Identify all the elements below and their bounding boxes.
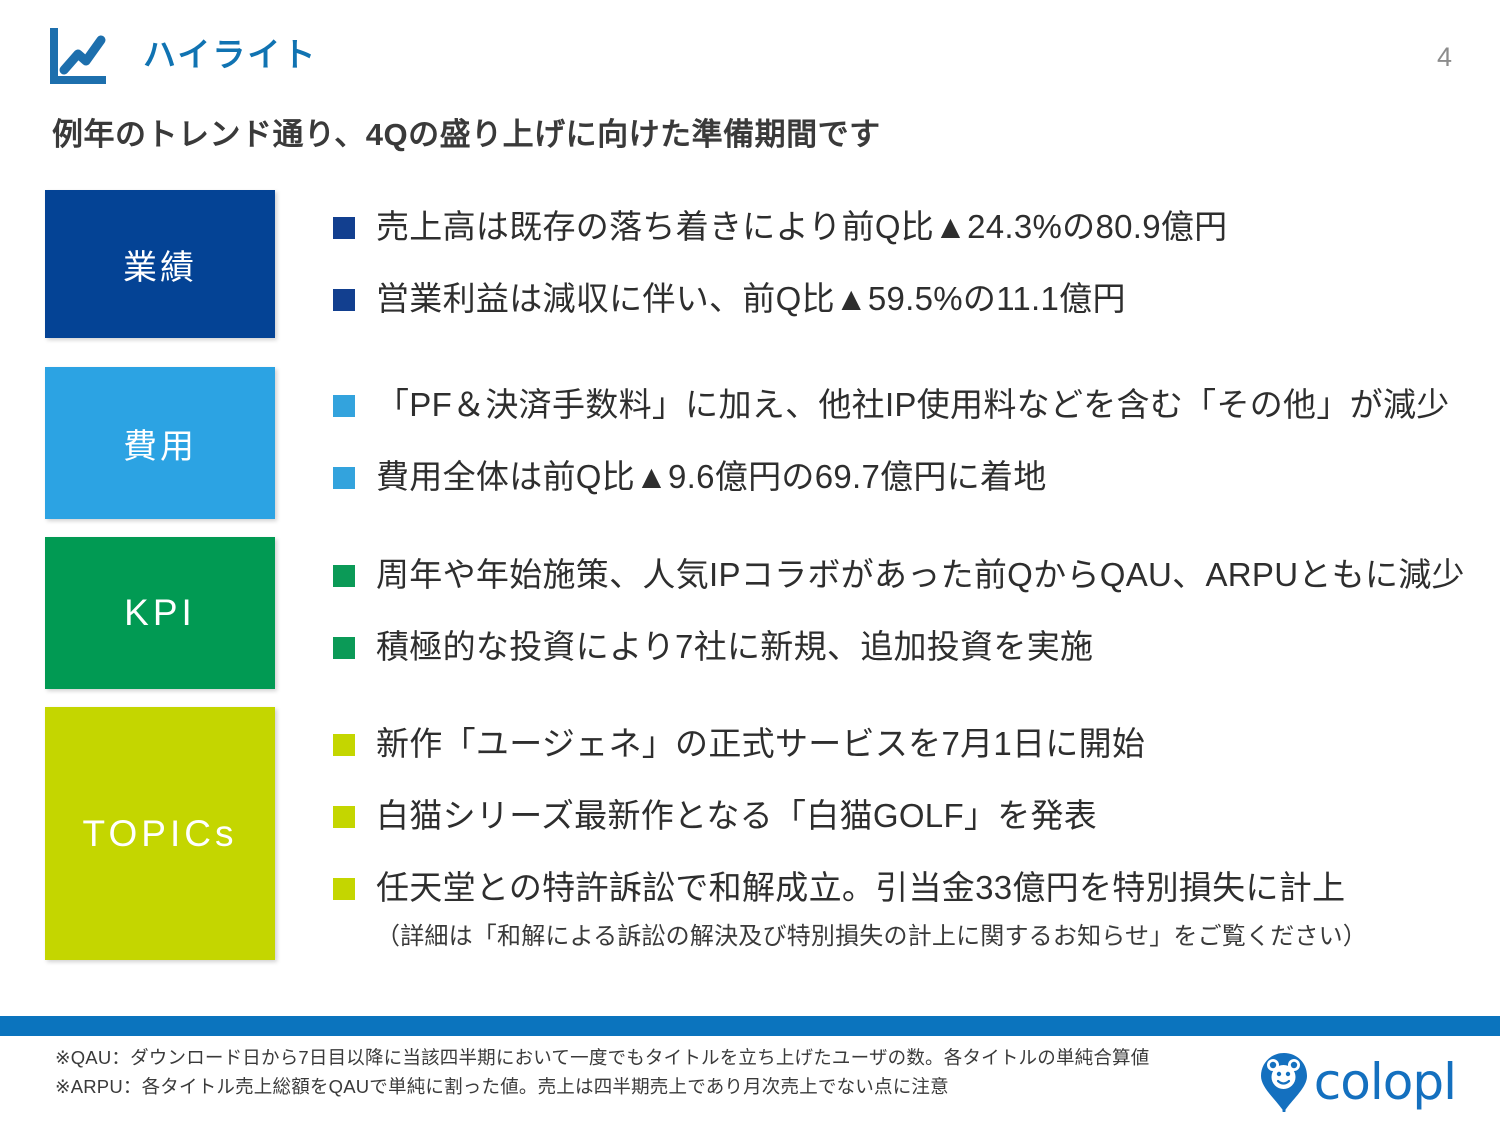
bullet-text: 費用全体は前Q比▲9.6億円の69.7億円に着地: [376, 458, 1047, 496]
bullet-square-icon: [333, 734, 355, 756]
bullet-square-icon: [333, 467, 355, 489]
section-bullets-topics: 新作「ユージェネ」の正式サービスを7月1日に開始 白猫シリーズ最新作となる「白猫…: [333, 725, 1367, 951]
bullet-square-icon: [333, 878, 355, 900]
bullet-item: 新作「ユージェネ」の正式サービスを7月1日に開始: [333, 725, 1367, 763]
section-badge-hiyou: 費用: [45, 367, 275, 519]
bullet-text: 営業利益は減収に伴い、前Q比▲59.5%の11.1億円: [376, 280, 1126, 318]
bullet-item: 積極的な投資により7社に新規、追加投資を実施: [333, 628, 1465, 666]
bullet-square-icon: [333, 289, 355, 311]
slide: ハイライト 4 例年のトレンド通り、4Qの盛り上げに向けた準備期間です 業績 売…: [0, 0, 1500, 1125]
section-label: TOPICs: [83, 813, 238, 855]
bullet-text: 任天堂との特許訴訟で和解成立。引当金33億円を特別損失に計上: [376, 869, 1345, 907]
colopl-wordmark: colopl: [1314, 1057, 1456, 1107]
colopl-bear-pin-icon: [1260, 1052, 1308, 1112]
footnote-arpu: ※ARPU：各タイトル売上総額をQAUで単純に割った値。売上は四半期売上であり月…: [55, 1073, 1149, 1102]
section-label: 費用: [123, 419, 197, 468]
bullet-square-icon: [333, 806, 355, 828]
page-number: 4: [1437, 42, 1452, 73]
bullet-text: 「PF＆決済手数料」に加え、他社IP使用料などを含む「その他」が減少: [376, 386, 1450, 424]
bullet-text: 周年や年始施策、人気IPコラボがあった前QからQAU、ARPUともに減少: [376, 556, 1465, 594]
bullet-square-icon: [333, 217, 355, 239]
bullet-text: 白猫シリーズ最新作となる「白猫GOLF」を発表: [376, 797, 1097, 835]
colopl-logo: colopl: [1260, 1052, 1456, 1112]
bullet-text: 売上高は既存の落ち着きにより前Q比▲24.3%の80.9億円: [376, 208, 1227, 246]
footer-notes: ※QAU：ダウンロード日から7日目以降に当該四半期において一度でもタイトルを立ち…: [55, 1044, 1149, 1101]
section-label: 業績: [123, 240, 197, 289]
footnote-qau: ※QAU：ダウンロード日から7日目以降に当該四半期において一度でもタイトルを立ち…: [55, 1044, 1149, 1073]
bullet-text: 新作「ユージェネ」の正式サービスを7月1日に開始: [376, 725, 1145, 763]
section-badge-gyouseki: 業績: [45, 190, 275, 338]
page-title: ハイライト: [143, 38, 317, 71]
topics-subnote: （詳細は「和解による訴訟の解決及び特別損失の計上に関するお知らせ」をご覧ください…: [376, 916, 1367, 951]
bullet-text: 積極的な投資により7社に新規、追加投資を実施: [376, 628, 1093, 666]
bullet-item: 費用全体は前Q比▲9.6億円の69.7億円に着地: [333, 458, 1450, 496]
section-bullets-hiyou: 「PF＆決済手数料」に加え、他社IP使用料などを含む「その他」が減少 費用全体は…: [333, 386, 1450, 496]
section-label: KPI: [124, 592, 196, 634]
bullet-item: 白猫シリーズ最新作となる「白猫GOLF」を発表: [333, 797, 1367, 835]
slide-subtitle: 例年のトレンド通り、4Qの盛り上げに向けた準備期間です: [52, 116, 881, 153]
bullet-item: 営業利益は減収に伴い、前Q比▲59.5%の11.1億円: [333, 280, 1227, 318]
section-bullets-gyouseki: 売上高は既存の落ち着きにより前Q比▲24.3%の80.9億円 営業利益は減収に伴…: [333, 208, 1227, 318]
section-badge-topics: TOPICs: [45, 707, 275, 960]
bullet-square-icon: [333, 637, 355, 659]
bullet-square-icon: [333, 395, 355, 417]
line-chart-icon: [46, 26, 108, 86]
bullet-square-icon: [333, 565, 355, 587]
bullet-item: 「PF＆決済手数料」に加え、他社IP使用料などを含む「その他」が減少: [333, 386, 1450, 424]
bullet-item: 周年や年始施策、人気IPコラボがあった前QからQAU、ARPUともに減少: [333, 556, 1465, 594]
footer-divider-bar: [0, 1016, 1500, 1036]
section-badge-kpi: KPI: [45, 537, 275, 689]
bullet-item: 任天堂との特許訴訟で和解成立。引当金33億円を特別損失に計上: [333, 869, 1367, 907]
bullet-item: 売上高は既存の落ち着きにより前Q比▲24.3%の80.9億円: [333, 208, 1227, 246]
slide-header: ハイライト 4: [0, 0, 1500, 100]
section-bullets-kpi: 周年や年始施策、人気IPコラボがあった前QからQAU、ARPUともに減少 積極的…: [333, 556, 1465, 666]
